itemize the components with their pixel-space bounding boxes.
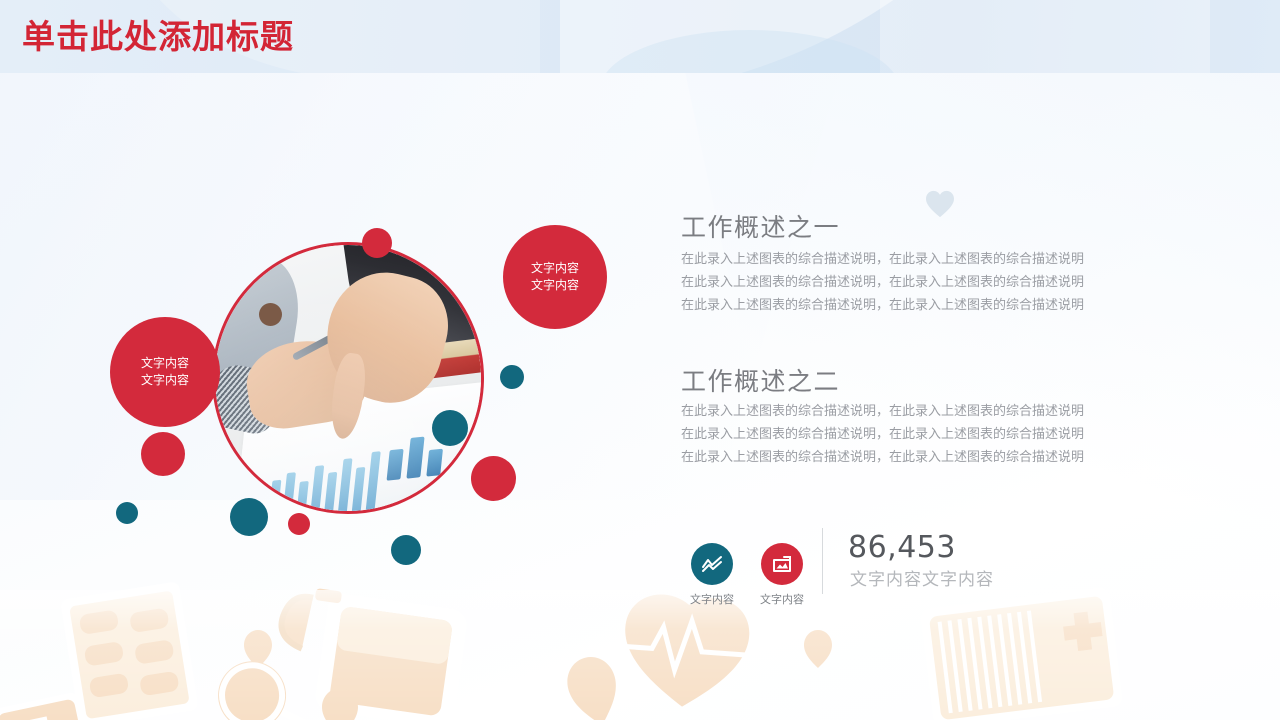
decor-dot-brown [259,303,282,326]
bubble-left-label: 文字内容 文字内容 [141,355,189,390]
decor-dot-red-bottom [288,513,310,535]
section-heading-1: 工作概述之一 [681,208,840,244]
photo-image-icon [770,552,794,576]
line-chart-icon-circle[interactable] [691,543,733,585]
photo-image-icon-circle[interactable] [761,543,803,585]
photo-image [215,245,481,511]
bubble-right-label: 文字内容 文字内容 [531,260,579,295]
decor-dot-teal-upper [500,365,524,389]
heart-icon [925,190,955,218]
page-title: 单击此处添加标题 [22,19,294,55]
photo-highlight [215,245,481,511]
stat-label: 文字内容文字内容 [850,565,994,590]
stat-icon-block-2[interactable]: 文字内容 [750,543,814,607]
decor-dot-red-top [362,228,392,258]
decor-dot-teal-mid [432,410,468,446]
decor-dot-teal-lower [230,498,268,536]
decor-dot-red-left [141,432,185,476]
watermark-pattern [0,580,1280,720]
decor-dot-red-right [471,456,516,501]
header-arc-shape-2 [880,0,1210,73]
stat-icon-block-1[interactable]: 文字内容 [680,543,744,607]
stat-icon-caption-1: 文字内容 [680,591,744,607]
section-body-1: 在此录入上述图表的综合描述说明，在此录入上述图表的综合描述说明 在此录入上述图表… [681,248,1181,317]
section-body-2: 在此录入上述图表的综合描述说明，在此录入上述图表的综合描述说明 在此录入上述图表… [681,400,1181,469]
stat-divider [822,528,823,594]
line-chart-icon [700,552,724,576]
decor-dot-teal-bottom [391,535,421,565]
bubble-left[interactable]: 文字内容 文字内容 [110,317,220,427]
bubble-right[interactable]: 文字内容 文字内容 [503,225,607,329]
stat-icon-caption-2: 文字内容 [750,591,814,607]
main-photo-circle [212,242,484,514]
slide-canvas: 单击此处添加标题 [0,0,1280,720]
stat-number: 86,453 [848,530,956,565]
decor-dot-teal-small [116,502,138,524]
section-heading-2: 工作概述之二 [681,362,840,398]
